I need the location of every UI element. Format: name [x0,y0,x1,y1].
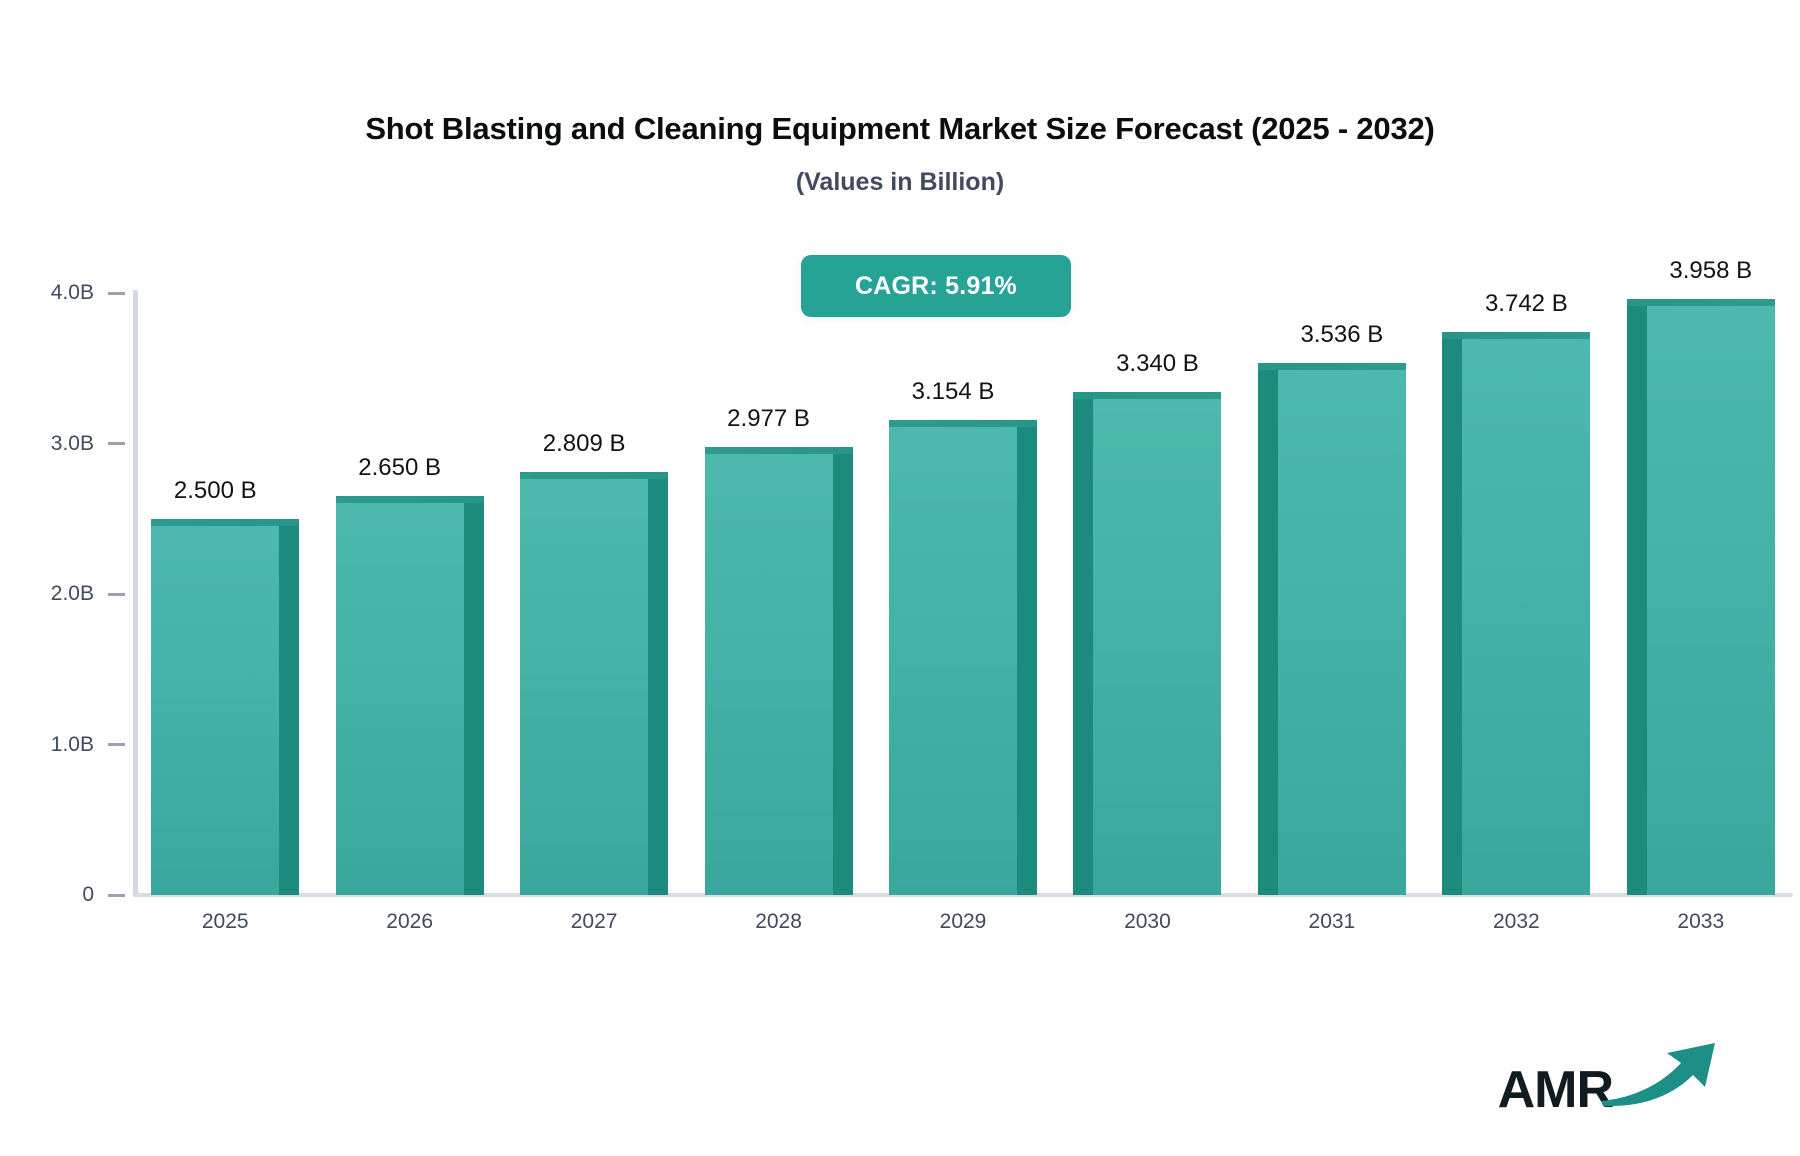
bar-side-face [279,526,299,895]
bar-top-face [1627,299,1775,306]
bar-top-face [1258,363,1406,370]
x-axis-label: 2029 [940,910,987,934]
bar-front-face [1093,392,1221,895]
bar-top-face [336,496,484,503]
bar-top-face [151,519,299,526]
amr-logo: AMR [1498,1035,1725,1116]
bar-side-face [1258,370,1278,895]
y-axis-tick-label: 1.0B [51,733,94,757]
y-axis-tick-mark [108,894,125,897]
bar-side-face [464,503,484,895]
bar-side-face [1017,427,1037,895]
y-axis-tick: 0 [0,883,133,907]
y-axis-tick: 3.0B [0,432,133,456]
bars-layer: 2.500 B2.650 B2.809 B2.977 B3.154 B3.340… [133,0,1793,1156]
bar-front-face [151,519,279,895]
bar-shape[interactable]: 2.809 B [520,472,648,895]
bar-shape[interactable]: 2.977 B [705,447,833,895]
bar-front-face [1462,332,1590,895]
bar-shape[interactable]: 3.742 B [1462,332,1590,895]
bar-side-face [648,479,668,895]
bar-side-face [1627,306,1647,895]
bar-shape[interactable]: 2.500 B [151,519,279,895]
x-axis-label: 2027 [571,910,618,934]
bar-side-face [1073,399,1093,895]
bar-shape[interactable]: 3.536 B [1278,363,1406,895]
bar-front-face [705,447,833,895]
y-axis-tick: 1.0B [0,733,133,757]
bar-value-label: 2.977 B [727,405,810,433]
bar-shape[interactable]: 3.154 B [889,420,1017,895]
y-axis-tick-label: 2.0B [51,582,94,606]
x-axis-label: 2031 [1309,910,1356,934]
bar-front-face [1278,363,1406,895]
amr-logo-text: AMR [1498,1064,1613,1116]
bar-side-face [1442,339,1462,895]
bar-value-label: 3.154 B [912,378,995,406]
y-axis-tick-mark [108,743,125,746]
bar-value-label: 3.742 B [1485,290,1568,318]
x-axis-label: 2025 [202,910,249,934]
bar-front-face [1647,299,1775,895]
y-axis-tick: 4.0B [0,281,133,305]
bar-value-label: 3.958 B [1669,257,1752,285]
bar-top-face [1442,332,1590,339]
bar-shape[interactable]: 3.340 B [1093,392,1221,895]
bar-value-label: 2.500 B [174,477,257,505]
y-axis-tick-label: 4.0B [51,281,94,305]
chart-canvas: Shot Blasting and Cleaning Equipment Mar… [0,0,1800,1156]
bar-value-label: 3.340 B [1116,350,1199,378]
bar-top-face [705,447,853,454]
bar-top-face [889,420,1037,427]
bar-shape[interactable]: 3.958 B [1647,299,1775,895]
bar-value-label: 2.809 B [543,430,626,458]
bar-top-face [520,472,668,479]
bar-front-face [520,472,648,895]
y-axis-tick-mark [108,292,125,295]
bar-front-face [889,420,1017,895]
x-axis-label: 2030 [1124,910,1171,934]
bar-value-label: 2.650 B [358,454,441,482]
x-axis-label: 2028 [755,910,802,934]
x-axis-label: 2032 [1493,910,1540,934]
y-axis-tick: 2.0B [0,582,133,606]
y-axis-tick-label: 3.0B [51,432,94,456]
y-axis-tick-label: 0 [82,883,94,907]
plot-area: 01.0B2.0B3.0B4.0B 2.500 B2.650 B2.809 B2… [0,0,1800,1156]
bar-side-face [833,454,853,895]
bar-front-face [336,496,464,895]
bar-shape[interactable]: 2.650 B [336,496,464,895]
y-axis-tick-mark [108,593,125,596]
trend-arrow-up-icon [1597,1035,1725,1112]
y-axis-tick-mark [108,442,125,445]
x-axis-label: 2026 [386,910,433,934]
x-axis-label: 2033 [1677,910,1724,934]
bar-top-face [1073,392,1221,399]
bar-value-label: 3.536 B [1301,321,1384,349]
